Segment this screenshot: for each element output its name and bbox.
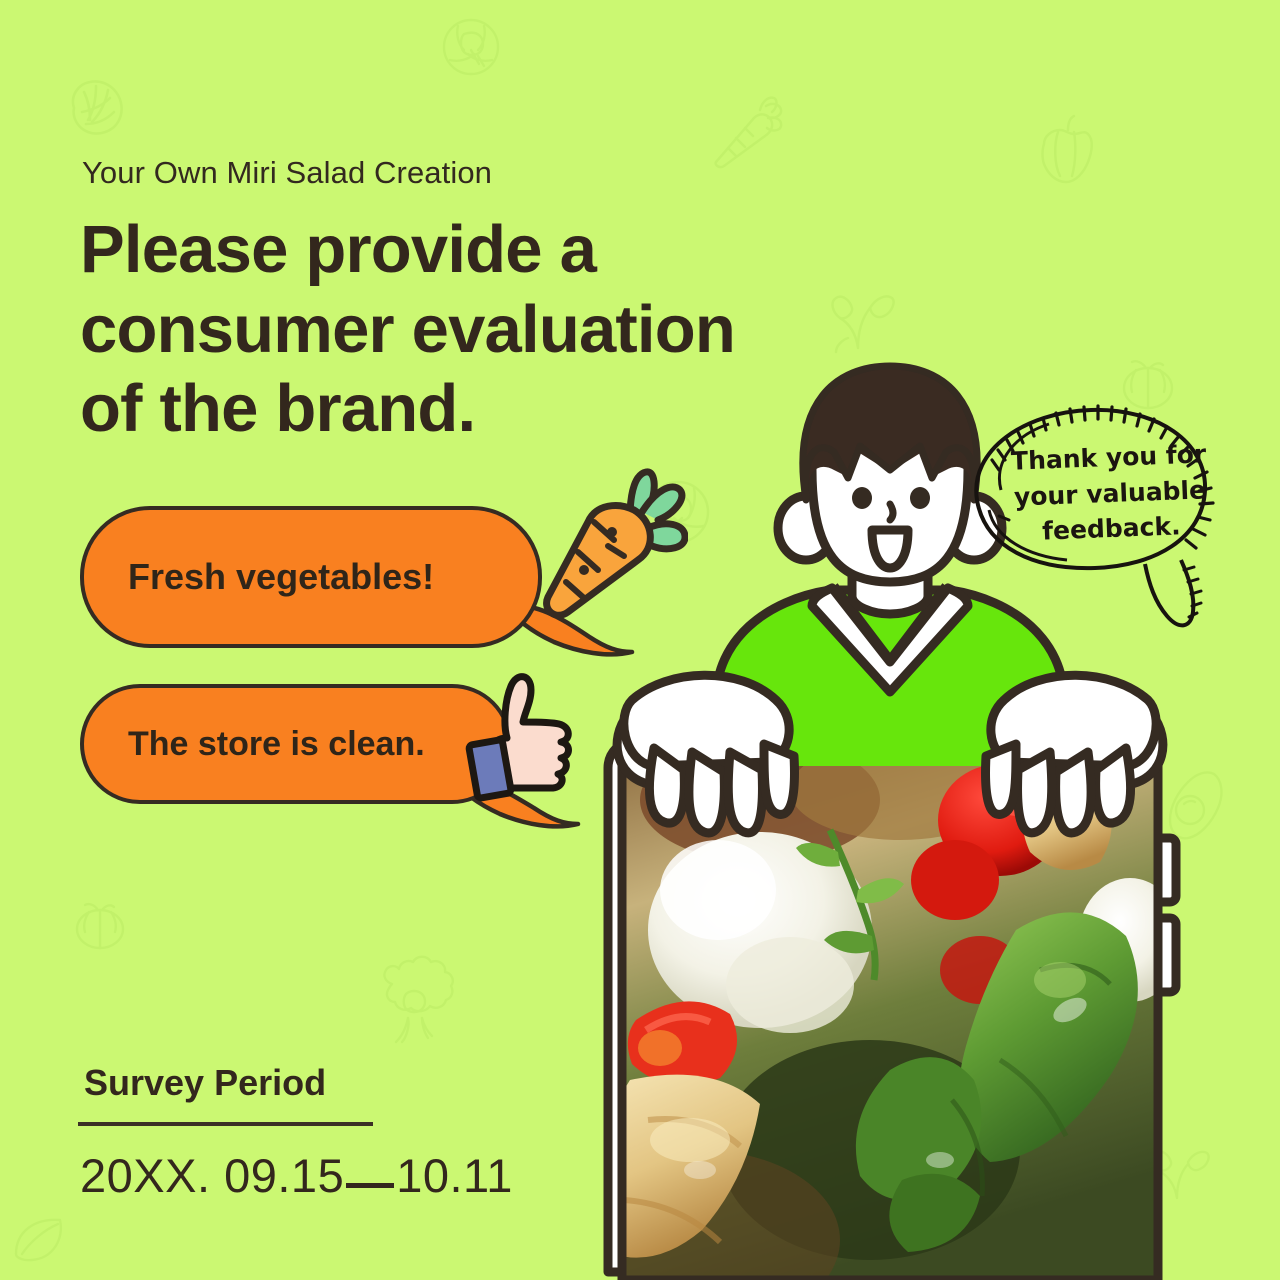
feedback-bubble-1[interactable]: Fresh vegetables! [80, 506, 542, 648]
thought-bubble-text: Thank you for your valuable feedback. [1003, 436, 1217, 550]
feedback-bubble-1-label: Fresh vegetables! [128, 556, 434, 598]
carrot-icon-feature [538, 460, 688, 635]
feedback-bubble-2[interactable]: The store is clean. [80, 684, 512, 804]
poster-canvas: Your Own Miri Salad Creation Please prov… [0, 0, 1280, 1280]
thumbs-up-icon [455, 668, 585, 813]
feedback-bubble-2-label: The store is clean. [128, 725, 425, 764]
